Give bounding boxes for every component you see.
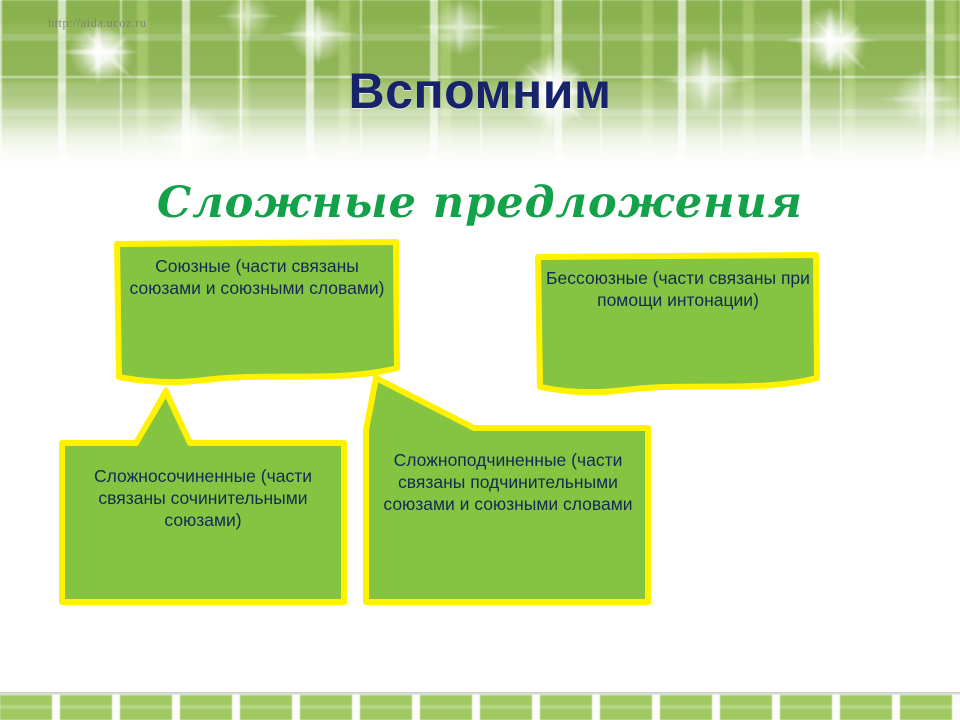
slide-canvas: Вспомним Сложные предложения Союзные (ча… xyxy=(0,0,960,720)
footer-mosaic-band xyxy=(0,695,960,720)
footer-watermark-url: http://aida.ucoz.ru xyxy=(48,16,147,31)
slide-subtitle: Сложные предложения xyxy=(0,178,960,228)
box-bessoyuznye[interactable] xyxy=(538,255,817,392)
slide-title: Вспомним xyxy=(0,62,960,120)
box-soyuznye[interactable] xyxy=(117,242,397,382)
box-slozhnosochinennye[interactable] xyxy=(62,392,344,602)
slide-footer xyxy=(0,684,960,720)
box-slozhnopodchinennye[interactable] xyxy=(366,378,648,602)
